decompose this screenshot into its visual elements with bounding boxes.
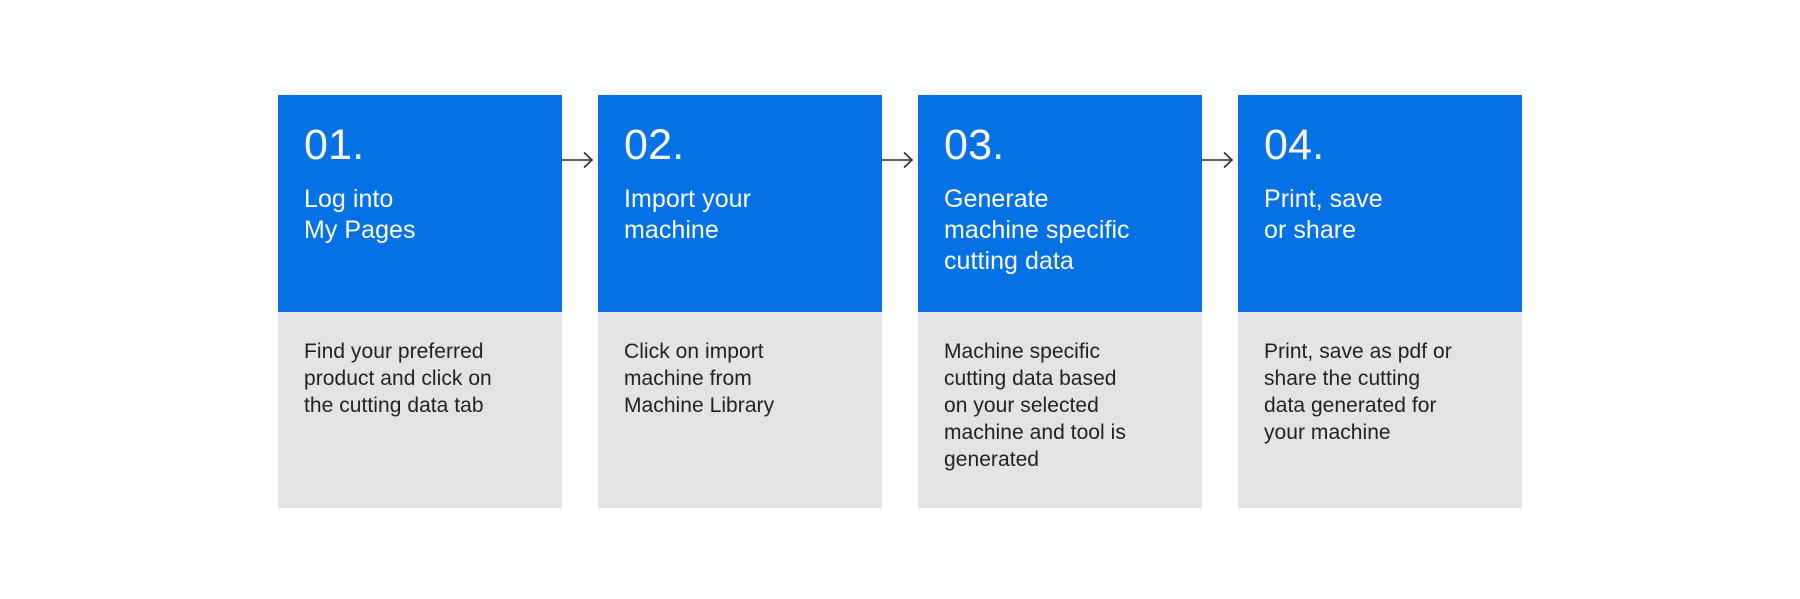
step-description-3: Machine specific cutting data based on y… bbox=[944, 338, 1176, 473]
step-card-2[interactable]: 02. Import your machine Click on import … bbox=[598, 95, 882, 508]
step-header-1: 01. Log into My Pages bbox=[278, 95, 562, 312]
infographic-canvas: 01. Log into My Pages Find your preferre… bbox=[0, 0, 1800, 599]
step-header-2: 02. Import your machine bbox=[598, 95, 882, 312]
arrow-right-icon bbox=[882, 148, 918, 172]
step-title-4: Print, save or share bbox=[1264, 184, 1496, 246]
step-header-3: 03. Generate machine specific cutting da… bbox=[918, 95, 1202, 312]
step-body-2: Click on import machine from Machine Lib… bbox=[598, 312, 882, 508]
step-description-2: Click on import machine from Machine Lib… bbox=[624, 338, 856, 419]
step-body-3: Machine specific cutting data based on y… bbox=[918, 312, 1202, 508]
step-card-3[interactable]: 03. Generate machine specific cutting da… bbox=[918, 95, 1202, 508]
step-body-1: Find your preferred product and click on… bbox=[278, 312, 562, 508]
arrow-right-icon bbox=[1202, 148, 1238, 172]
step-header-4: 04. Print, save or share bbox=[1238, 95, 1522, 312]
step-description-1: Find your preferred product and click on… bbox=[304, 338, 536, 419]
step-number-2: 02. bbox=[624, 122, 856, 168]
step-number-3: 03. bbox=[944, 122, 1176, 168]
step-description-4: Print, save as pdf or share the cutting … bbox=[1264, 338, 1496, 446]
step-title-1: Log into My Pages bbox=[304, 184, 536, 246]
step-body-4: Print, save as pdf or share the cutting … bbox=[1238, 312, 1522, 508]
step-title-3: Generate machine specific cutting data bbox=[944, 184, 1176, 277]
step-card-1[interactable]: 01. Log into My Pages Find your preferre… bbox=[278, 95, 562, 508]
step-title-2: Import your machine bbox=[624, 184, 856, 246]
arrow-right-icon bbox=[562, 148, 598, 172]
step-number-1: 01. bbox=[304, 122, 536, 168]
step-card-4[interactable]: 04. Print, save or share Print, save as … bbox=[1238, 95, 1522, 508]
step-number-4: 04. bbox=[1264, 122, 1496, 168]
process-steps-row: 01. Log into My Pages Find your preferre… bbox=[278, 95, 1522, 508]
